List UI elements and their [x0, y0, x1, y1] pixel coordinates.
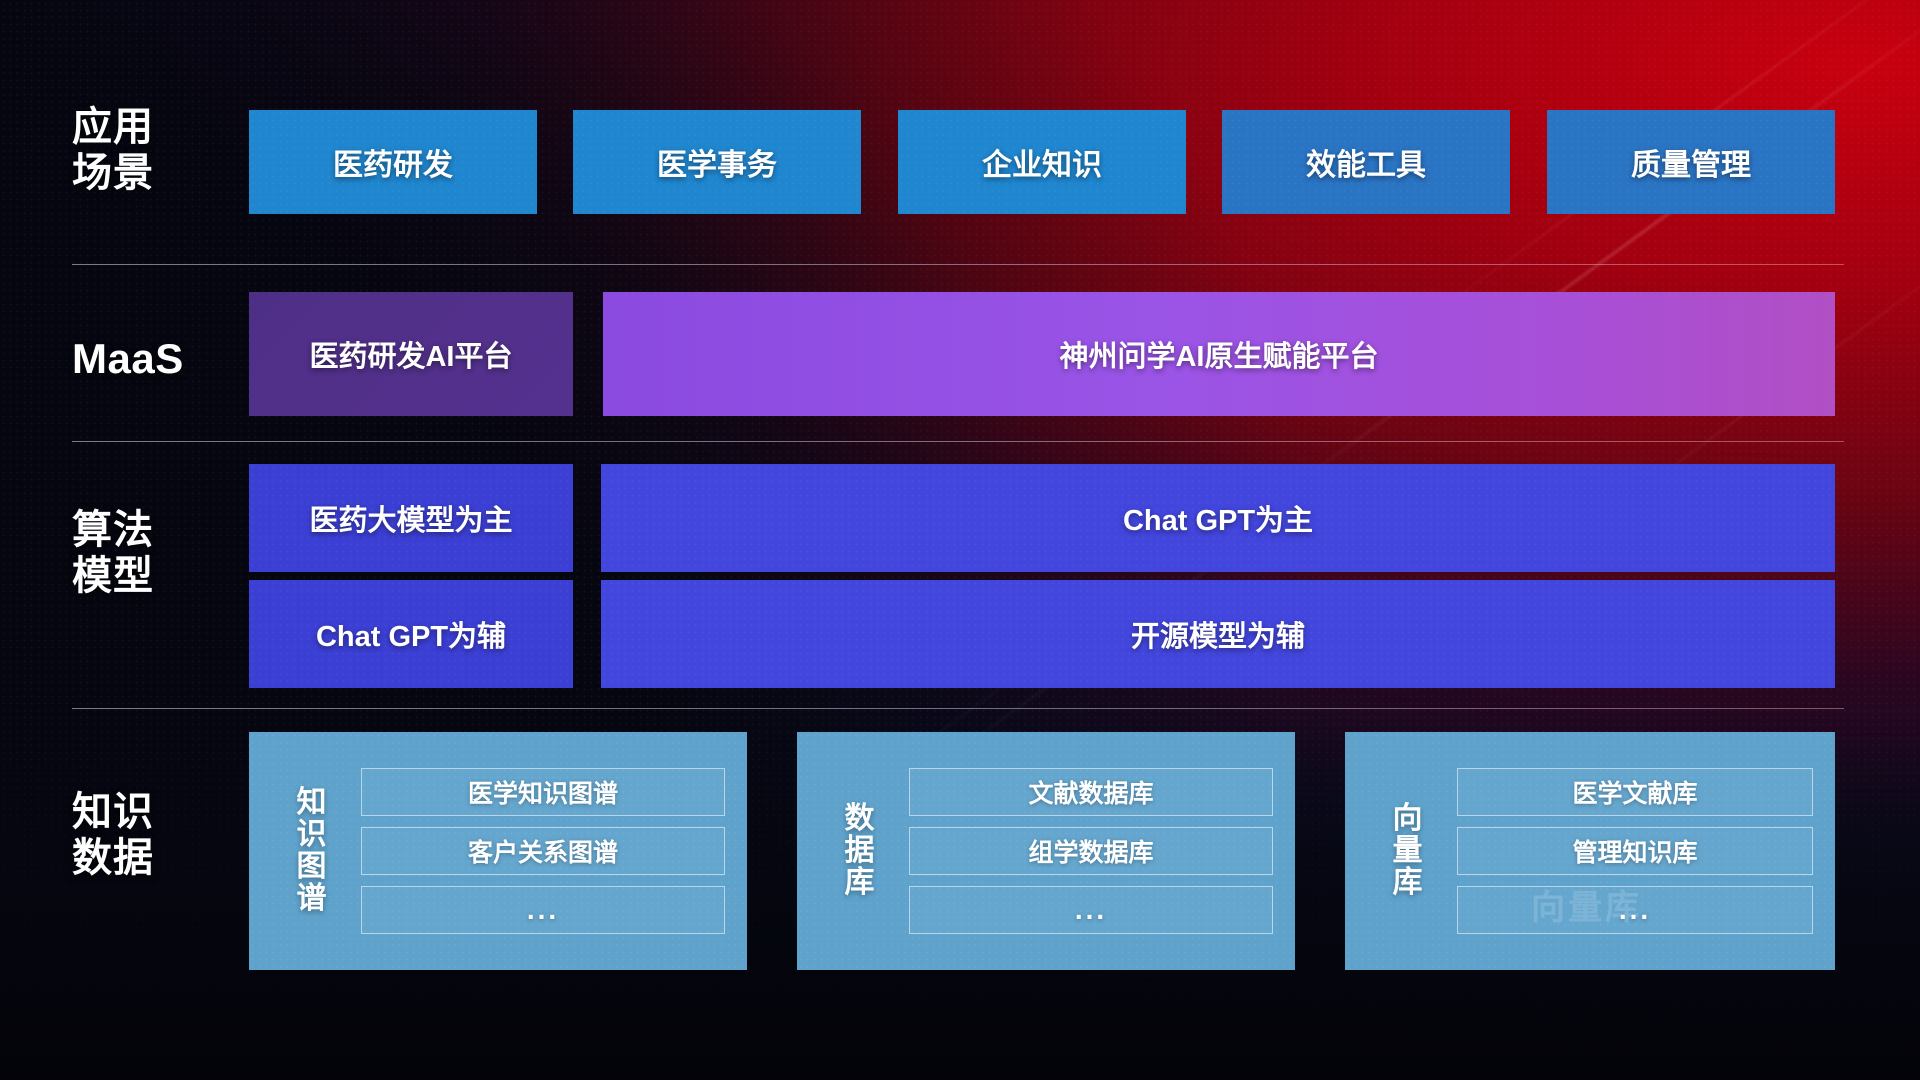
knowledge-item[interactable]: 医学知识图谱 [361, 768, 725, 816]
knowledge-panel-title: 知 识 图 谱 [275, 787, 349, 914]
knowledge-panel-database[interactable]: 数 据 库 文献数据库 组学数据库 ... [797, 732, 1295, 970]
algo-box-chatgpt-primary[interactable]: Chat GPT为主 [601, 464, 1835, 572]
row-label-algorithm-line2: 模型 [72, 554, 222, 600]
knowledge-item-list: 医学知识图谱 客户关系图谱 ... [349, 752, 747, 950]
row-label-maas: MaaS [72, 335, 222, 383]
algo-box-yiyao-model-primary[interactable]: 医药大模型为主 [249, 464, 573, 572]
app-box-label: 质量管理 [1631, 140, 1751, 184]
knowledge-item[interactable]: 组学数据库 [909, 827, 1273, 875]
knowledge-item[interactable]: 客户关系图谱 [361, 827, 725, 875]
knowledge-item-more[interactable]: ... [909, 886, 1273, 934]
row-label-knowledge-line1: 知识 [72, 790, 222, 836]
knowledge-item-list: 文献数据库 组学数据库 ... [897, 752, 1295, 950]
app-box-qiye-zhishi[interactable]: 企业知识 [898, 110, 1186, 214]
app-box-label: 效能工具 [1306, 140, 1426, 184]
row-label-application: 应用 场景 [72, 105, 222, 196]
knowledge-panel-title: 数 据 库 [823, 803, 897, 898]
maas-box-yiyao-yanfa-ai-platform[interactable]: 医药研发AI平台 [249, 292, 573, 416]
row-label-knowledge: 知识 数据 [72, 790, 222, 881]
knowledge-item[interactable]: 医学文献库 [1457, 768, 1813, 816]
maas-box-label: 神州问学AI原生赋能平台 [1059, 333, 1378, 375]
divider-maas-algorithm [72, 441, 1844, 442]
row-label-algorithm-line1: 算法 [72, 508, 222, 554]
app-box-yixue-shiwu[interactable]: 医学事务 [573, 110, 861, 214]
app-box-label: 医学事务 [657, 140, 777, 184]
maas-box-shenzhou-wenxue-platform[interactable]: 神州问学AI原生赋能平台 [603, 292, 1835, 416]
algo-box-label: Chat GPT为辅 [316, 613, 506, 655]
row-label-knowledge-line2: 数据 [72, 836, 222, 882]
row-label-maas-text: MaaS [72, 335, 222, 383]
app-box-xiaoneng-gongju[interactable]: 效能工具 [1222, 110, 1510, 214]
algo-box-label: 开源模型为辅 [1131, 613, 1305, 655]
knowledge-panel-knowledge-graph[interactable]: 知 识 图 谱 医学知识图谱 客户关系图谱 ... [249, 732, 747, 970]
algo-box-label: Chat GPT为主 [1123, 497, 1313, 539]
knowledge-panel-title: 向 量 库 [1371, 803, 1445, 898]
diagram-content: 应用 场景 医药研发 医学事务 企业知识 效能工具 质量管理 MaaS 医药研发… [0, 0, 1920, 1080]
app-box-label: 医药研发 [333, 140, 453, 184]
algo-box-label: 医药大模型为主 [309, 497, 512, 539]
row-label-algorithm: 算法 模型 [72, 508, 222, 599]
knowledge-item[interactable]: 管理知识库 [1457, 827, 1813, 875]
divider-algorithm-knowledge [72, 708, 1844, 709]
row-label-application-line1: 应用 [72, 105, 222, 151]
divider-application-maas [72, 264, 1844, 265]
knowledge-item-more[interactable]: ... [1457, 886, 1813, 934]
app-box-label: 企业知识 [982, 140, 1102, 184]
row-label-application-line2: 场景 [72, 151, 222, 197]
maas-box-label: 医药研发AI平台 [309, 333, 512, 375]
knowledge-item-list: 医学文献库 管理知识库 ... [1445, 752, 1835, 950]
knowledge-panel-vector-store[interactable]: 向 量 库 医学文献库 管理知识库 ... 向量库 [1345, 732, 1835, 970]
app-box-yiyao-yanfa[interactable]: 医药研发 [249, 110, 537, 214]
knowledge-item[interactable]: 文献数据库 [909, 768, 1273, 816]
slide-canvas: 应用 场景 医药研发 医学事务 企业知识 效能工具 质量管理 MaaS 医药研发… [0, 0, 1920, 1080]
knowledge-item-more[interactable]: ... [361, 886, 725, 934]
app-box-zhiliang-guanli[interactable]: 质量管理 [1547, 110, 1835, 214]
algo-box-chatgpt-secondary[interactable]: Chat GPT为辅 [249, 580, 573, 688]
algo-box-opensource-secondary[interactable]: 开源模型为辅 [601, 580, 1835, 688]
